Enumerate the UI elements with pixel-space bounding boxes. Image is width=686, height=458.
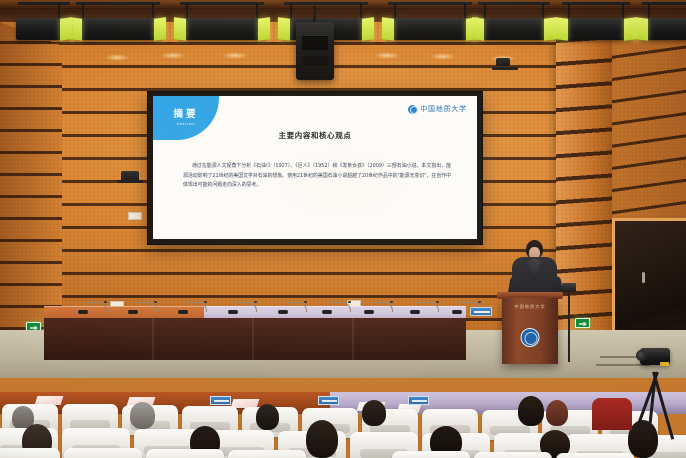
wall-speaker-left [121,171,139,182]
audience-seat[interactable] [0,448,60,458]
audience-head [628,420,658,458]
stage-light-6 [556,0,636,46]
slide-title: 主要内容和核心观点 [153,130,477,141]
microphone-icon-6 [322,310,332,314]
door-handle[interactable] [642,272,645,283]
presentation-slide: 摘要 Abstract 中国地质大学 主要内容和核心观点 通过在能源人文视角下分… [153,96,477,239]
audience-seat[interactable] [228,450,306,458]
microphone-icon-5 [278,310,288,314]
microphone-icon-1 [78,310,88,314]
stage-light-8 [12,0,72,46]
microphone-icon-3 [178,310,188,314]
camera-lens-icon [636,350,647,361]
downlight-glow-3 [222,52,248,59]
audience-seat[interactable] [392,451,470,458]
audience-placard-1 [210,396,231,405]
university-seal-icon [408,105,417,114]
head-table-front-panel [44,318,466,360]
microphone-icon-9 [452,310,462,314]
stage-light-1 [70,0,166,46]
microphone-icon-2 [128,310,138,314]
downlight-glow-2 [160,52,186,59]
slide-logo-text: 中国地质大学 [420,104,467,114]
university-seal-icon [521,328,540,347]
audience-head [362,400,386,426]
stage-light-7 [636,0,686,46]
downlight-glow-5 [430,53,456,60]
table-panel-seam-2 [252,318,254,360]
table-panel-seam-3 [352,318,354,360]
stage-light-2 [174,0,270,46]
wall-speaker-upper [496,58,510,66]
slide-badge-chinese-label: 摘要 [173,110,198,120]
podium-mic-stand [568,288,570,362]
audience-head [518,396,544,426]
audience-head [256,404,279,430]
wall-outlet-plate-left [128,212,142,220]
audience-placard-2 [318,396,339,405]
audience-head [306,420,338,458]
attendee-red-jacket [592,398,632,430]
microphone-icon-podium [562,283,576,292]
downlight-glow-4 [374,52,400,59]
slide-university-logo: 中国地质大学 [408,104,467,114]
camera-label-tab [660,362,669,366]
audience-head [546,400,568,426]
audience-seat[interactable] [146,449,224,458]
audience-placard-3 [408,396,429,405]
ceiling-loudspeaker [296,22,334,80]
slide-body-paragraph: 通过在能源人文视角下分析《石油!》（1927）、《巨人》（1952）和《发条女孩… [183,162,451,191]
audience-seat[interactable] [64,448,142,458]
audience-head [130,402,155,429]
audience-seat[interactable] [556,453,634,458]
slide-badge-english-label: Abstract [177,122,196,126]
podium-and-presenter: 中国地质大学 [486,236,586,364]
lecture-hall-photo: 摘要 Abstract 中国地质大学 主要内容和核心观点 通过在能源人文视角下分… [0,0,686,458]
audience-seat[interactable] [474,452,552,458]
microphone-icon-7 [364,310,374,314]
stage-light-5 [472,0,556,46]
stage-light-4 [382,0,478,46]
microphone-icon-4 [228,310,238,314]
podium-engraved-text: 中国地质大学 [502,304,558,310]
speaking-podium: 中国地质大学 [502,298,558,364]
table-panel-seam-1 [152,318,154,360]
downlight-glow-1 [104,54,130,61]
microphone-icon-8 [410,310,420,314]
projection-screen-frame: 摘要 Abstract 中国地质大学 主要内容和核心观点 通过在能源人文视角下分… [148,92,482,244]
